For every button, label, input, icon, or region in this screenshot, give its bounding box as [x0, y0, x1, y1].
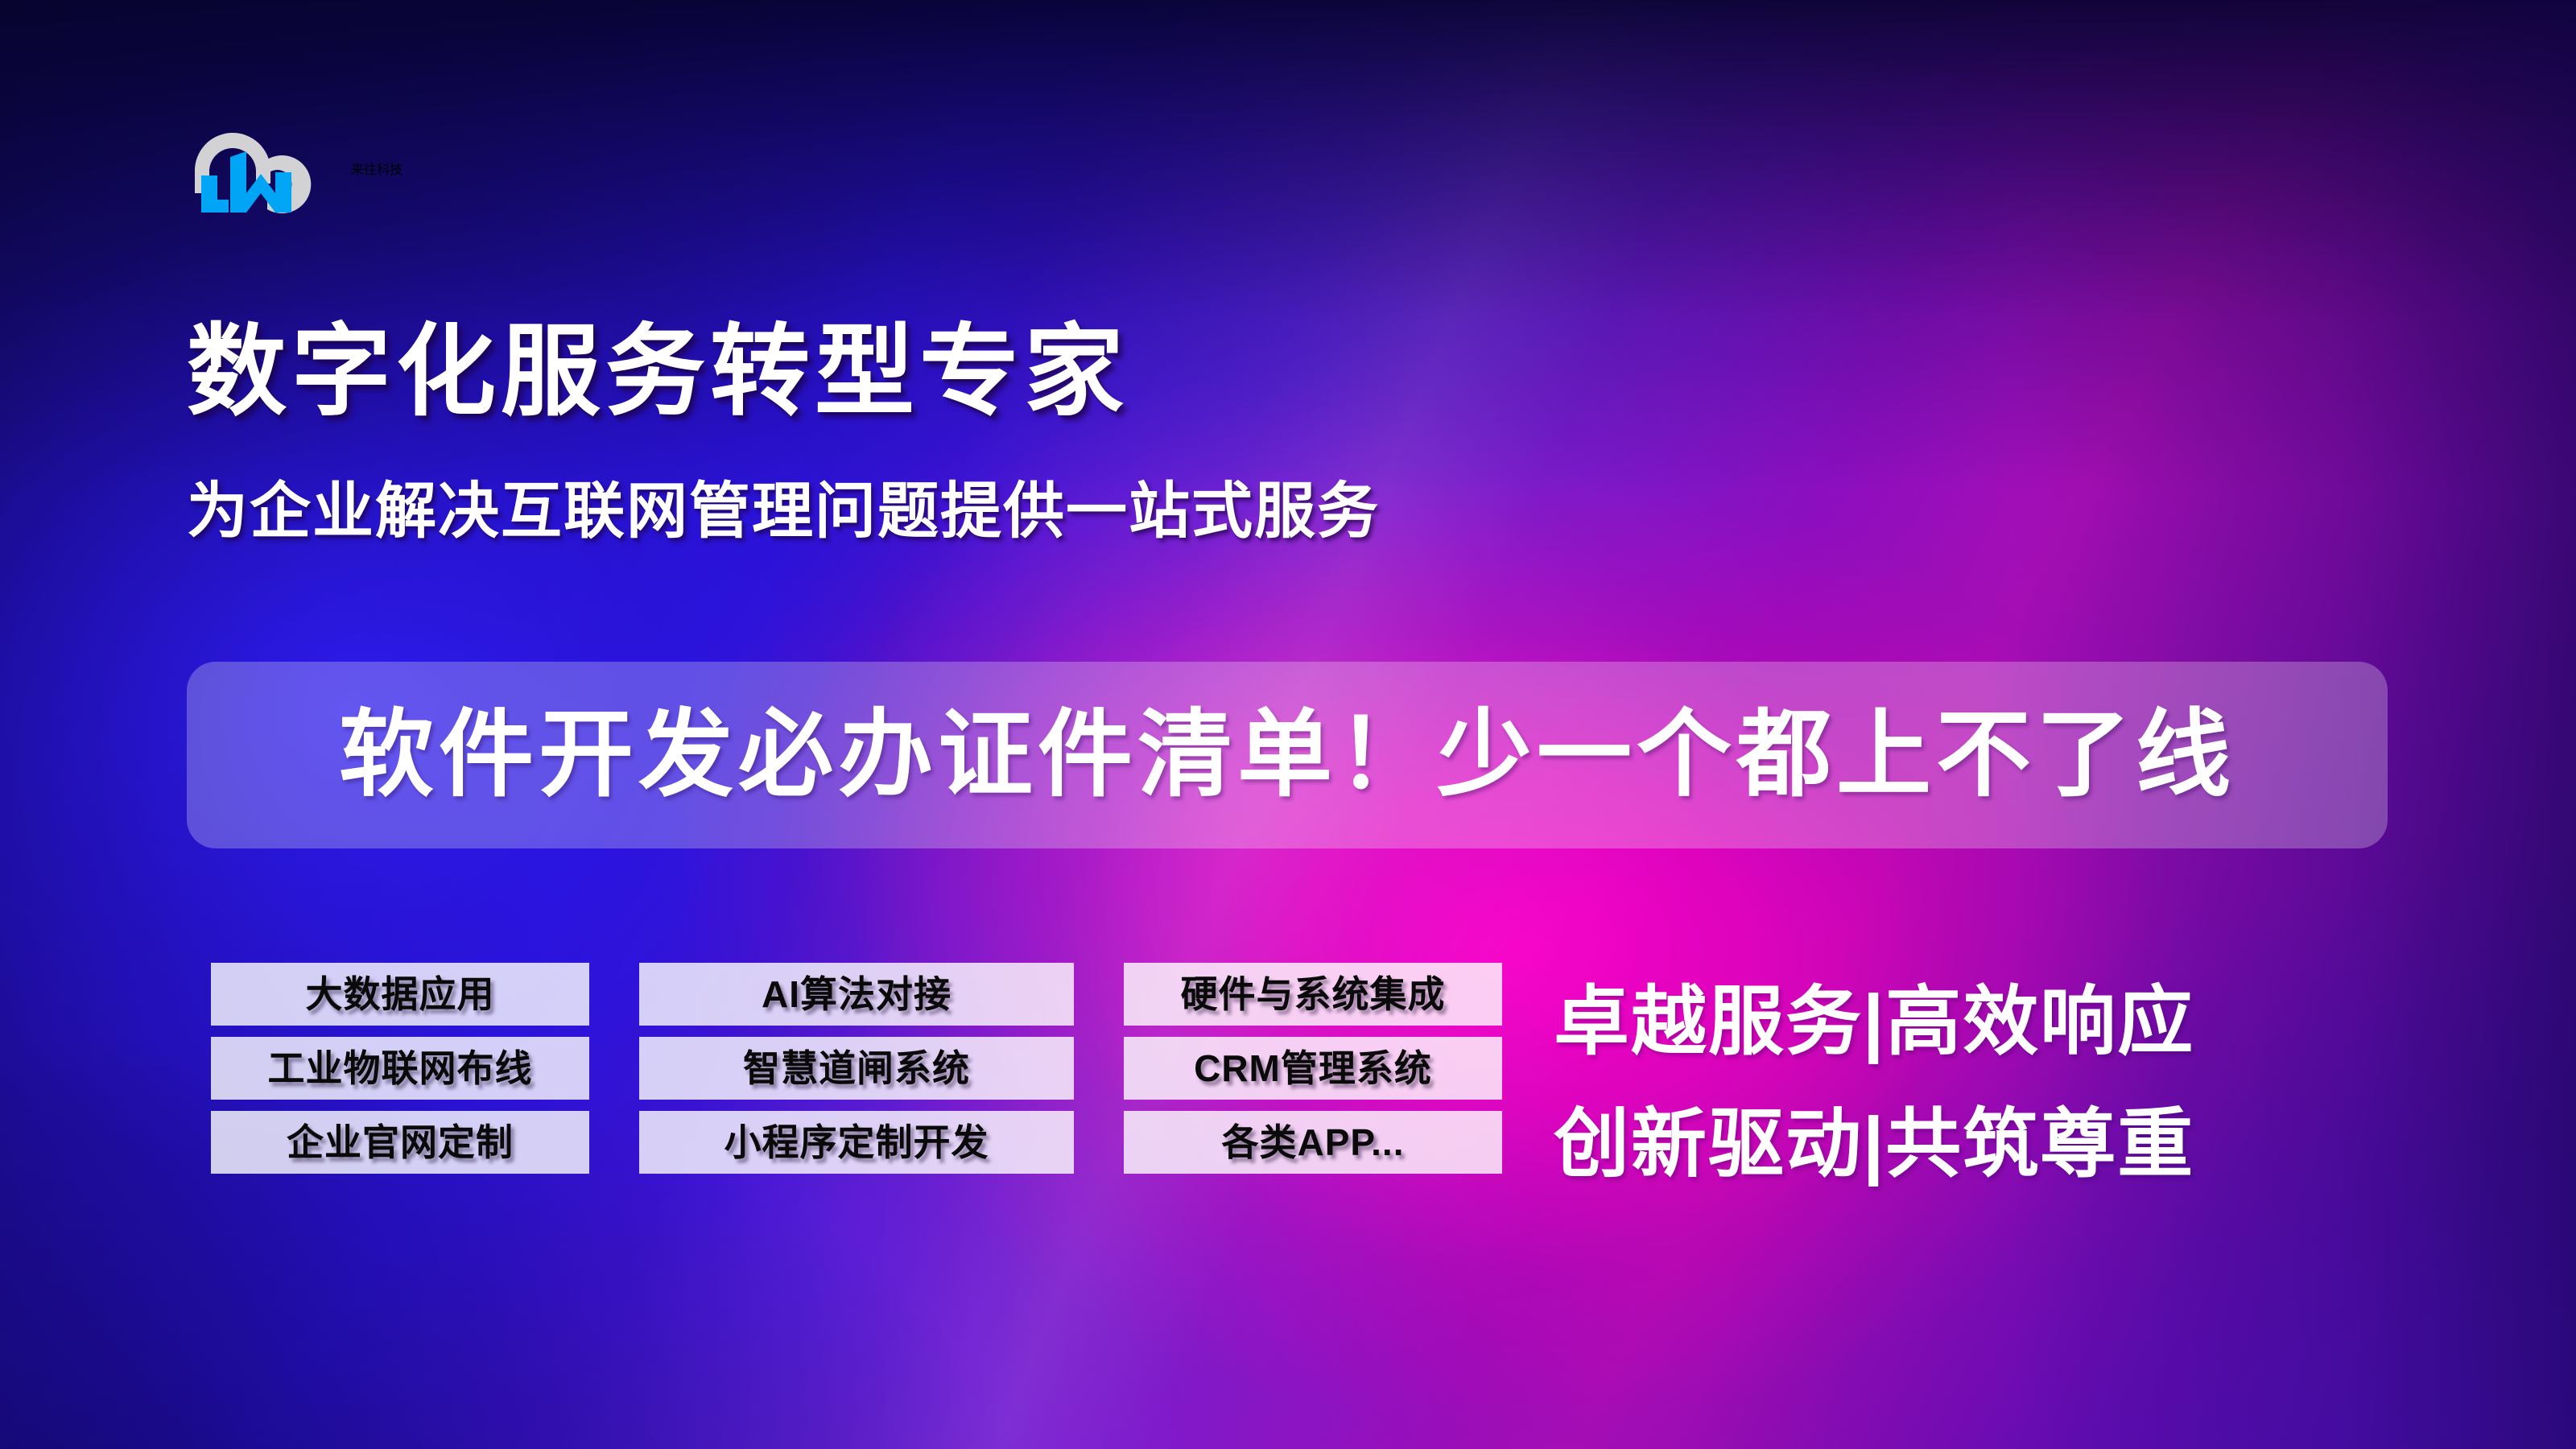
service-tag-label: 硬件与系统集成 — [1181, 976, 1446, 1013]
service-tag-label: 智慧道闸系统 — [743, 1050, 970, 1087]
highlight-banner: 软件开发必办证件清单！少一个都上不了线 — [187, 662, 2388, 848]
service-tag-grid: 大数据应用 AI算法对接 硬件与系统集成 工业物联网布线 智慧道闸系统 CRM管… — [211, 963, 1502, 1174]
service-tag[interactable]: 工业物联网布线 — [211, 1037, 589, 1100]
brand-name: 来往科技 — [351, 159, 402, 178]
service-tag-label: 小程序定制开发 — [724, 1124, 989, 1161]
service-tag-label: AI算法对接 — [762, 976, 952, 1013]
cloud-monogram-icon — [187, 119, 328, 217]
hero-subheadline: 为企业解决互联网管理问题提供一站式服务 — [187, 481, 1380, 543]
poster-content: 来往科技 数字化服务转型专家 为企业解决互联网管理问题提供一站式服务 软件开发必… — [0, 0, 2576, 1449]
service-tag[interactable]: 小程序定制开发 — [639, 1111, 1074, 1174]
slogan-line: 创新驱动|共筑尊重 — [1554, 1106, 2194, 1182]
hero-headline: 数字化服务转型专家 — [187, 322, 1129, 422]
poster-canvas: 来往科技 数字化服务转型专家 为企业解决互联网管理问题提供一站式服务 软件开发必… — [0, 0, 2576, 1449]
slogan-block: 卓越服务|高效响应 创新驱动|共筑尊重 — [1554, 984, 2194, 1182]
service-tag-label: 企业官网定制 — [287, 1124, 514, 1161]
service-tag-label: 工业物联网布线 — [268, 1050, 533, 1087]
service-tag[interactable]: CRM管理系统 — [1124, 1037, 1502, 1100]
service-tag[interactable]: 硬件与系统集成 — [1124, 963, 1502, 1026]
service-tag[interactable]: 各类APP... — [1124, 1111, 1502, 1174]
service-tag[interactable]: 智慧道闸系统 — [639, 1037, 1074, 1100]
service-tag-label: 各类APP... — [1222, 1124, 1405, 1161]
service-tag-label: CRM管理系统 — [1194, 1050, 1432, 1087]
brand-logo: 来往科技 — [187, 119, 402, 217]
service-tag-label: 大数据应用 — [306, 976, 495, 1013]
service-tag[interactable]: 企业官网定制 — [211, 1111, 589, 1174]
service-tag[interactable]: AI算法对接 — [639, 963, 1074, 1026]
highlight-banner-text: 软件开发必办证件清单！少一个都上不了线 — [339, 708, 2235, 803]
slogan-line: 卓越服务|高效响应 — [1554, 984, 2194, 1059]
service-tag[interactable]: 大数据应用 — [211, 963, 589, 1026]
